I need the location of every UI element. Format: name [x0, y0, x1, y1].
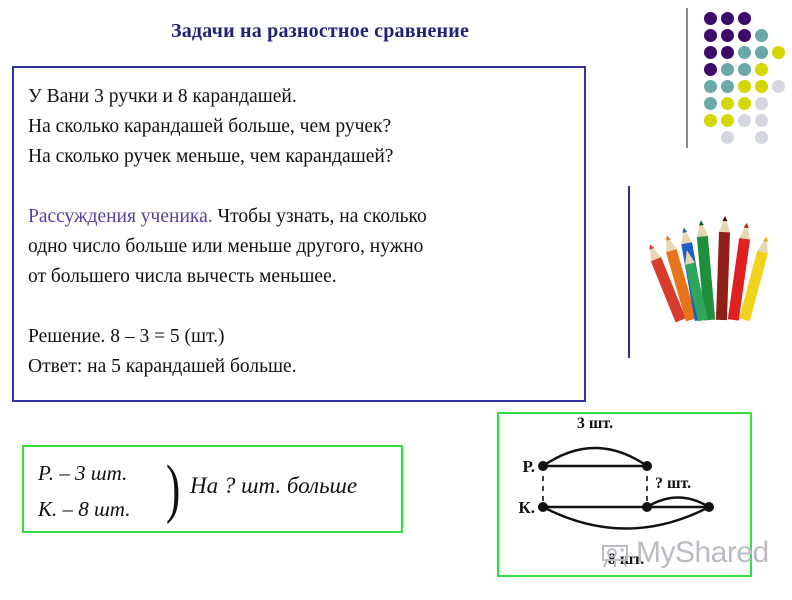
decoration-dot: [755, 29, 768, 42]
decoration-dot: [755, 46, 768, 59]
decoration-dot: [772, 46, 785, 59]
decoration-dot: [738, 80, 751, 93]
page-title: Задачи на разностное сравнение: [40, 20, 600, 43]
diagram-label-top: 3 шт.: [577, 415, 613, 432]
dot-matrix-decoration: [686, 4, 792, 154]
formula-conclusion: На ? шт. больше: [190, 473, 357, 499]
problem-line-2: На сколько карандашей больше, чем ручек?: [28, 112, 584, 142]
decoration-dot: [755, 63, 768, 76]
decoration-dot: [704, 46, 717, 59]
decoration-dot: [738, 46, 751, 59]
watermark-text: MyShared: [636, 536, 769, 570]
decoration-dot: [721, 46, 734, 59]
answer-line: Ответ: на 5 карандашей больше.: [28, 352, 584, 382]
point-k-left: [538, 502, 548, 512]
decoration-dot: [755, 80, 768, 93]
formula-row-pencils: К. – 8 шт.: [38, 491, 170, 527]
decoration-dot: [755, 97, 768, 110]
decoration-dot: [755, 131, 768, 144]
decoration-dot: [721, 29, 734, 42]
decoration-dot: [755, 114, 768, 127]
diagram-label-p: Р.: [522, 457, 535, 476]
pencils-photo: [634, 192, 782, 348]
decoration-dot: [704, 29, 717, 42]
formula-brace: ): [166, 449, 180, 529]
projector-icon: [600, 540, 634, 570]
decoration-dot: [704, 80, 717, 93]
arc-bottom: [543, 507, 709, 529]
decoration-dot: [738, 97, 751, 110]
decoration-dot: [738, 114, 751, 127]
arc-right: [647, 498, 709, 508]
reasoning-line-1-rest: Чтобы узнать, на сколько: [213, 206, 427, 227]
decoration-dot: [721, 114, 734, 127]
reasoning-line-1: Рассуждения ученика. Чтобы узнать, на ск…: [28, 202, 584, 232]
decoration-dot: [704, 114, 717, 127]
decoration-dot: [704, 12, 717, 25]
decoration-dot: [721, 12, 734, 25]
formula-box: Р. – 3 шт. К. – 8 шт. ) На ? шт. больше: [22, 445, 403, 533]
decoration-dot: [721, 80, 734, 93]
decoration-dot: [738, 29, 751, 42]
formula-stack: Р. – 3 шт. К. – 8 шт.: [38, 455, 170, 527]
diagram-label-k: К.: [518, 498, 535, 517]
problem-line-3: На сколько ручек меньше, чем карандашей?: [28, 142, 584, 172]
point-p-right: [642, 461, 652, 471]
slide-canvas: Задачи на разностное сравнение У Вани 3 …: [0, 0, 792, 600]
decoration-dot: [721, 131, 734, 144]
decoration-dot: [721, 63, 734, 76]
paragraph-spacer-1: [28, 172, 584, 202]
point-k-right: [704, 502, 714, 512]
paragraph-spacer-2: [28, 292, 584, 322]
decoration-dot: [772, 80, 785, 93]
arc-top: [543, 448, 647, 466]
decoration-dot: [721, 97, 734, 110]
reasoning-heading: Рассуждения ученика.: [28, 206, 213, 227]
decoration-dot: [738, 12, 751, 25]
problem-line-1: У Вани 3 ручки и 8 карандашей.: [28, 82, 584, 112]
point-p-left: [538, 461, 548, 471]
decoration-rule: [686, 8, 688, 148]
diagram-label-unknown: ? шт.: [655, 475, 691, 492]
reasoning-line-3: от большего числа вычесть меньшее.: [28, 262, 584, 292]
point-k-middle: [642, 502, 652, 512]
decoration-dot: [738, 63, 751, 76]
pencils-rule: [628, 186, 630, 358]
decoration-dot: [704, 97, 717, 110]
decoration-dot: [704, 63, 717, 76]
reasoning-line-2: одно число больше или меньше другого, ну…: [28, 232, 584, 262]
formula-row-pens: Р. – 3 шт.: [38, 455, 170, 491]
problem-text-box: У Вани 3 ручки и 8 карандашей. На скольк…: [12, 66, 586, 402]
solution-line: Решение. 8 – 3 = 5 (шт.): [28, 322, 584, 352]
